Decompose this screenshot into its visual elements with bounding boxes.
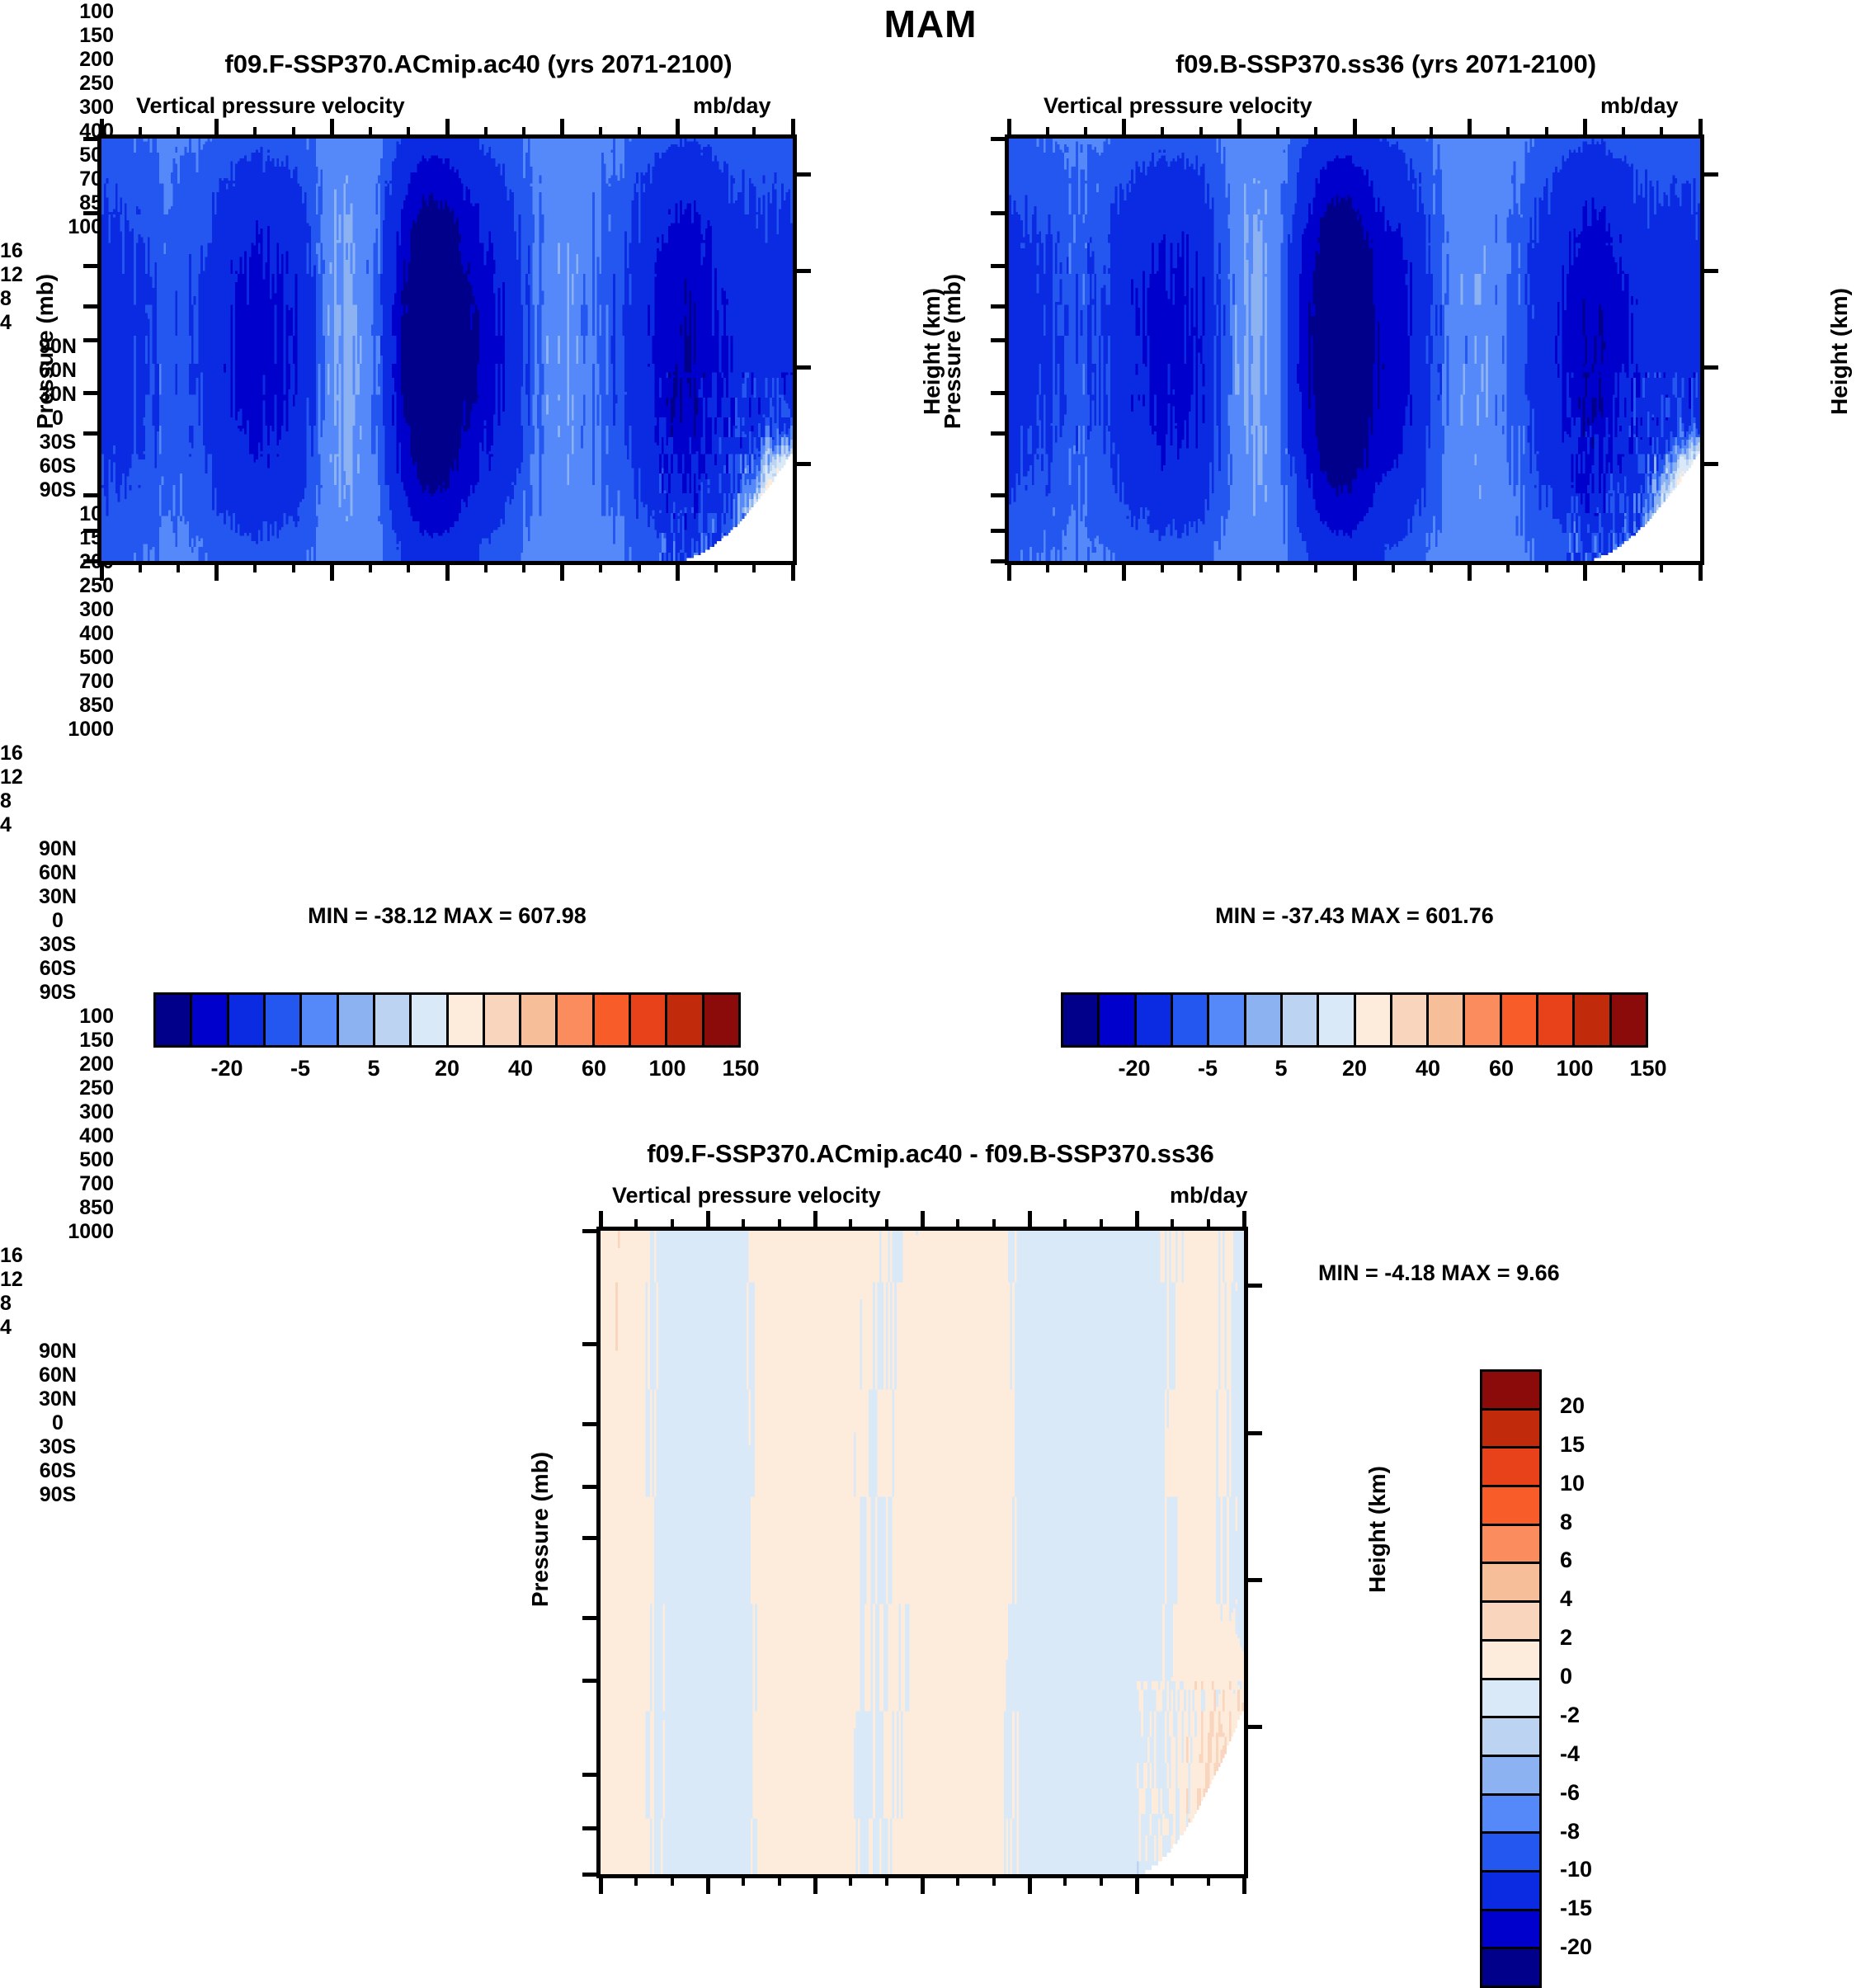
diff-panel-top-tick xyxy=(921,1211,925,1231)
diff-panel-lat-minor-tick xyxy=(671,1874,674,1886)
diff-panel-pressure-label: 400 xyxy=(0,1124,114,1148)
left-colorbar-cell[interactable] xyxy=(667,995,704,1045)
diff-panel-pressure-label: 250 xyxy=(0,1076,114,1100)
right-panel-lat-minor-tick xyxy=(1392,561,1395,572)
left-panel-lat-minor-tick xyxy=(752,561,756,572)
left-colorbar-cell[interactable] xyxy=(485,995,521,1045)
diff-colorbar-cell[interactable] xyxy=(1482,1718,1539,1757)
right-panel-lat-minor-tick xyxy=(1506,561,1510,572)
diff-panel-pressure-label: 500 xyxy=(0,1148,114,1172)
left-panel-lat-minor-tick xyxy=(292,561,295,572)
right-panel-height-tick xyxy=(1700,172,1718,177)
diff-panel-height-tick xyxy=(1244,1431,1262,1435)
left-panel-lat-minor-tick xyxy=(484,561,488,572)
right-panel-top-minor-tick xyxy=(1392,127,1395,139)
diff-colorbar-cell[interactable] xyxy=(1482,1372,1539,1411)
left-colorbar-cell[interactable] xyxy=(302,995,338,1045)
right-colorbar-cell[interactable] xyxy=(1429,995,1465,1045)
right-panel-lat-tick xyxy=(1468,561,1472,581)
right-panel-lat-tick xyxy=(1353,561,1357,581)
right-panel-lat-minor-tick xyxy=(1660,561,1663,572)
left-panel-lat-minor-tick xyxy=(177,561,180,572)
right-panel-top-minor-tick xyxy=(1506,127,1510,139)
diff-panel-lat-label: 90N xyxy=(0,1340,115,1364)
right-panel-pressure-tick xyxy=(991,304,1009,309)
diff-panel-lat-label: 0 xyxy=(0,1411,115,1435)
left-colorbar-cell[interactable] xyxy=(192,995,229,1045)
diff-colorbar-cell[interactable] xyxy=(1482,1680,1539,1719)
diff-colorbar-cell[interactable] xyxy=(1482,1834,1539,1873)
left-colorbar-label: 150 xyxy=(691,1056,790,1081)
diff-panel-lat-minor-tick xyxy=(742,1874,745,1886)
diff-panel-top-minor-tick xyxy=(885,1219,888,1231)
diff-panel-lat-minor-tick xyxy=(1063,1874,1067,1886)
diff-panel-lat-label: 30S xyxy=(0,1435,115,1459)
right-panel-lat-tick xyxy=(1583,561,1587,581)
diff-colorbar-cell[interactable] xyxy=(1482,1796,1539,1835)
left-panel-lat-tick xyxy=(676,561,680,581)
left-panel-pressure-tick xyxy=(83,338,101,342)
right-colorbar-cell[interactable] xyxy=(1137,995,1173,1045)
diff-panel-top-minor-tick xyxy=(634,1219,638,1231)
diff-colorbar-cell[interactable] xyxy=(1482,1564,1539,1603)
right-colorbar-cell[interactable] xyxy=(1356,995,1392,1045)
diff-panel-lat-label: 60S xyxy=(0,1459,115,1483)
diff-panel-top-minor-tick xyxy=(1100,1219,1103,1231)
left-panel-top-minor-tick xyxy=(714,127,718,139)
left-panel-lat-minor-tick xyxy=(369,561,372,572)
right-panel-pressure-tick xyxy=(991,391,1009,395)
left-colorbar-cell[interactable] xyxy=(266,995,302,1045)
diff-panel-top-tick xyxy=(599,1211,603,1231)
right-colorbar-label: 150 xyxy=(1599,1056,1698,1081)
diff-colorbar-cell[interactable] xyxy=(1482,1603,1539,1642)
diff-panel-minmax: MIN = -4.18 MAX = 9.66 xyxy=(1318,1260,1560,1286)
right-panel-lat-minor-tick xyxy=(1276,561,1279,572)
left-panel-top-tick xyxy=(445,119,450,139)
diff-panel-lat-minor-tick xyxy=(1171,1874,1174,1886)
left-colorbar-cell[interactable] xyxy=(704,995,738,1045)
right-panel-colorbar[interactable] xyxy=(1061,992,1648,1048)
right-panel-plot xyxy=(1005,134,1704,565)
diff-colorbar-cell[interactable] xyxy=(1482,1526,1539,1565)
right-colorbar-cell[interactable] xyxy=(1392,995,1429,1045)
diff-panel-pressure-label: 100 xyxy=(0,1005,114,1029)
diff-panel-lat-tick xyxy=(1028,1874,1032,1894)
diff-panel-top-minor-tick xyxy=(671,1219,674,1231)
left-colorbar-cell[interactable] xyxy=(558,995,594,1045)
diff-panel-lat-tick xyxy=(706,1874,710,1894)
diff-panel-pressure-label: 1000 xyxy=(0,1220,114,1244)
diff-colorbar-cell[interactable] xyxy=(1482,1873,1539,1911)
right-colorbar-cell[interactable] xyxy=(1612,995,1646,1045)
diff-panel-lat-minor-tick xyxy=(992,1874,996,1886)
left-panel-top-minor-tick xyxy=(484,127,488,139)
figure-root: MAM f09.F-SSP370.ACmip.ac40 (yrs 2071-21… xyxy=(0,0,1861,1966)
right-colorbar-cell[interactable] xyxy=(1246,995,1283,1045)
diff-colorbar-label: 20 xyxy=(1560,1393,1634,1419)
diff-panel-lat-minor-tick xyxy=(885,1874,888,1886)
left-colorbar-cell[interactable] xyxy=(339,995,375,1045)
left-panel-variable: Vertical pressure velocity xyxy=(136,93,405,119)
diff-panel-pressure-label: 850 xyxy=(0,1196,114,1220)
right-panel-top-minor-tick xyxy=(1276,127,1279,139)
diff-panel-lat-minor-tick xyxy=(1100,1874,1103,1886)
right-panel-lat-label: 90N xyxy=(0,837,115,861)
right-panel-lat-minor-tick xyxy=(1199,561,1203,572)
left-panel-top-tick xyxy=(330,119,334,139)
left-panel-lat-tick xyxy=(214,561,219,581)
left-panel-top-minor-tick xyxy=(407,127,410,139)
diff-panel-ylabel: Pressure (mb) xyxy=(527,1422,554,1637)
diff-colorbar-label: 2 xyxy=(1560,1625,1634,1651)
diff-colorbar-label: 10 xyxy=(1560,1471,1634,1496)
right-panel-pressure-label: 250 xyxy=(0,574,114,598)
right-panel-top-tick xyxy=(1583,119,1587,139)
right-panel-top-tick xyxy=(1122,119,1126,139)
right-panel-units: mb/day xyxy=(1600,93,1679,119)
right-panel-lat-minor-tick xyxy=(1545,561,1548,572)
left-colorbar-cell[interactable] xyxy=(375,995,412,1045)
right-panel-top-minor-tick xyxy=(1622,127,1625,139)
left-panel-top-tick xyxy=(214,119,219,139)
right-panel-height-tick xyxy=(1700,365,1718,370)
right-panel-top-tick xyxy=(1698,119,1703,139)
left-panel-top-tick xyxy=(100,119,104,139)
diff-panel-units: mb/day xyxy=(1170,1183,1248,1208)
right-panel-top-minor-tick xyxy=(1545,127,1548,139)
diff-colorbar-label: -8 xyxy=(1560,1819,1634,1844)
right-panel-lat-tick xyxy=(1237,561,1241,581)
right-panel-pressure-tick xyxy=(991,493,1009,497)
diff-panel-pressure-tick xyxy=(582,1342,601,1346)
diff-panel-top-tick xyxy=(1242,1211,1246,1231)
right-colorbar-cell[interactable] xyxy=(1209,995,1246,1045)
left-panel-plot xyxy=(97,134,797,565)
diff-panel-top-tick xyxy=(1135,1211,1139,1231)
diff-panel-top-minor-tick xyxy=(1207,1219,1210,1231)
left-panel-top-minor-tick xyxy=(139,127,142,139)
right-panel-pressure-tick xyxy=(991,338,1009,342)
right-colorbar-cell[interactable] xyxy=(1100,995,1136,1045)
left-panel-lat-tick xyxy=(791,561,795,581)
diff-colorbar-cell[interactable] xyxy=(1482,1911,1539,1950)
diff-panel-pressure-tick xyxy=(582,1485,601,1489)
right-panel-y2label: Height (km) xyxy=(1826,244,1853,459)
diff-panel-top-tick xyxy=(1028,1211,1032,1231)
right-panel-height-label: 16 xyxy=(0,742,49,766)
left-panel-top-minor-tick xyxy=(522,127,525,139)
left-panel-pressure-tick xyxy=(83,391,101,395)
diff-panel-pressure-tick xyxy=(582,1536,601,1540)
right-colorbar-cell[interactable] xyxy=(1465,995,1501,1045)
diff-colorbar-label: 6 xyxy=(1560,1548,1634,1573)
diff-panel-lat-tick xyxy=(921,1874,925,1894)
diff-colorbar-label: -2 xyxy=(1560,1703,1634,1728)
left-panel-pressure-tick xyxy=(83,264,101,268)
diff-panel-pressure-label: 150 xyxy=(0,1029,114,1053)
left-panel-lat-minor-tick xyxy=(638,561,641,572)
diff-colorbar-label: -15 xyxy=(1560,1896,1634,1921)
right-panel-height-label: 12 xyxy=(0,766,49,789)
left-panel-pressure-tick xyxy=(83,529,101,533)
right-colorbar-cell[interactable] xyxy=(1538,995,1575,1045)
left-panel-pressure-tick xyxy=(83,304,101,309)
right-panel-lat-minor-tick xyxy=(1430,561,1433,572)
left-panel-height-tick xyxy=(793,462,811,466)
right-panel-variable: Vertical pressure velocity xyxy=(1044,93,1312,119)
right-panel-top-tick xyxy=(1353,119,1357,139)
left-panel-lat-tick xyxy=(445,561,450,581)
diff-colorbar-cell[interactable] xyxy=(1482,1411,1539,1449)
left-panel-lat-tick xyxy=(560,561,564,581)
left-panel-top-tick xyxy=(676,119,680,139)
diff-colorbar-label: 8 xyxy=(1560,1510,1634,1535)
right-panel-top-tick xyxy=(1468,119,1472,139)
left-panel-title: f09.F-SSP370.ACmip.ac40 (yrs 2071-2100) xyxy=(33,49,924,79)
diff-colorbar-label: -20 xyxy=(1560,1934,1634,1960)
diff-colorbar-label: -6 xyxy=(1560,1780,1634,1806)
left-colorbar-cell[interactable] xyxy=(412,995,448,1045)
diff-panel-lat-tick xyxy=(1242,1874,1246,1894)
left-colorbar-cell[interactable] xyxy=(156,995,192,1045)
diff-panel-top-minor-tick xyxy=(849,1219,852,1231)
left-panel-pressure-label: 300 xyxy=(0,96,114,120)
right-panel-lat-minor-tick xyxy=(1622,561,1625,572)
contour-field xyxy=(601,1231,1244,1874)
diff-colorbar-cell[interactable] xyxy=(1482,1949,1539,1986)
left-panel-units: mb/day xyxy=(693,93,771,119)
right-panel-height-label: 4 xyxy=(0,813,49,837)
right-panel-height-tick xyxy=(1700,462,1718,466)
right-panel-pressure-label: 400 xyxy=(0,622,114,646)
diff-panel-lat-minor-tick xyxy=(634,1874,638,1886)
diff-panel-lat-tick xyxy=(813,1874,817,1894)
left-panel-pressure-tick xyxy=(83,211,101,215)
left-panel-lat-minor-tick xyxy=(139,561,142,572)
diff-panel-pressure-tick xyxy=(582,1422,601,1426)
diff-panel-colorbar[interactable] xyxy=(1480,1369,1542,1988)
diff-colorbar-cell[interactable] xyxy=(1482,1642,1539,1680)
diff-panel-height-label: 8 xyxy=(0,1292,49,1316)
diff-panel-height-label: 4 xyxy=(0,1316,49,1340)
diff-panel-pressure-label: 300 xyxy=(0,1100,114,1124)
left-panel-pressure-tick xyxy=(83,431,101,436)
diff-colorbar-cell[interactable] xyxy=(1482,1757,1539,1796)
right-panel-lat-tick xyxy=(1007,561,1011,581)
left-panel-height-tick xyxy=(793,269,811,273)
diff-panel-pressure-tick xyxy=(582,1773,601,1777)
diff-colorbar-cell[interactable] xyxy=(1482,1449,1539,1487)
right-colorbar-cell[interactable] xyxy=(1063,995,1100,1045)
diff-panel-top-minor-tick xyxy=(778,1219,781,1231)
left-panel-minmax: MIN = -38.12 MAX = 607.98 xyxy=(97,903,797,929)
diff-panel-top-minor-tick xyxy=(742,1219,745,1231)
right-panel-pressure-label: 300 xyxy=(0,598,114,622)
diff-colorbar-label: 0 xyxy=(1560,1664,1634,1689)
left-panel-top-minor-tick xyxy=(177,127,180,139)
diff-panel-height-label: 16 xyxy=(0,1244,49,1268)
right-panel-top-minor-tick xyxy=(1314,127,1317,139)
right-panel-top-minor-tick xyxy=(1046,127,1049,139)
right-colorbar-cell[interactable] xyxy=(1575,995,1611,1045)
left-panel-top-minor-tick xyxy=(253,127,257,139)
diff-panel-lat-minor-tick xyxy=(849,1874,852,1886)
diff-panel-height-tick xyxy=(1244,1578,1262,1582)
left-colorbar-cell[interactable] xyxy=(521,995,558,1045)
right-panel-ylabel: Pressure (mb) xyxy=(940,244,966,459)
diff-panel-plot xyxy=(596,1227,1248,1878)
page-title: MAM xyxy=(0,2,1861,46)
left-panel-pressure-tick xyxy=(83,493,101,497)
right-panel-pressure-tick xyxy=(991,529,1009,533)
right-panel-lat-label: 30S xyxy=(0,933,115,957)
right-panel-top-minor-tick xyxy=(1084,127,1087,139)
right-panel-top-tick xyxy=(1007,119,1011,139)
diff-panel-pressure-tick xyxy=(582,1679,601,1683)
right-panel-lat-minor-tick xyxy=(1161,561,1164,572)
right-panel-minmax: MIN = -37.43 MAX = 601.76 xyxy=(1005,903,1704,929)
left-colorbar-cell[interactable] xyxy=(229,995,266,1045)
diff-colorbar-cell[interactable] xyxy=(1482,1487,1539,1526)
diff-panel-top-minor-tick xyxy=(956,1219,959,1231)
diff-panel-top-tick xyxy=(813,1211,817,1231)
diff-panel-y2label: Height (km) xyxy=(1364,1422,1391,1637)
diff-colorbar-label: 4 xyxy=(1560,1586,1634,1612)
diff-panel-variable: Vertical pressure velocity xyxy=(612,1183,881,1208)
diff-colorbar-label: -4 xyxy=(1560,1741,1634,1767)
right-panel-top-tick xyxy=(1237,119,1241,139)
left-panel-top-tick xyxy=(791,119,795,139)
diff-colorbar-label: 15 xyxy=(1560,1432,1634,1458)
diff-panel-height-tick xyxy=(1244,1725,1262,1729)
left-panel-lat-minor-tick xyxy=(714,561,718,572)
left-panel-lat-minor-tick xyxy=(599,561,602,572)
left-colorbar-cell[interactable] xyxy=(595,995,631,1045)
contour-field xyxy=(1009,139,1700,561)
right-panel-height-tick xyxy=(1700,269,1718,273)
right-panel-lat-label: 60S xyxy=(0,957,115,981)
left-panel-colorbar[interactable] xyxy=(153,992,741,1048)
left-panel-ylabel: Pressure (mb) xyxy=(32,244,59,459)
right-panel-lat-tick xyxy=(1122,561,1126,581)
diff-panel-pressure-label: 700 xyxy=(0,1172,114,1196)
diff-panel-lat-tick xyxy=(599,1874,603,1894)
right-panel-lat-label: 90S xyxy=(0,981,115,1005)
right-panel-pressure-label: 850 xyxy=(0,694,114,718)
diff-panel-lat-label: 30N xyxy=(0,1387,115,1411)
diff-panel-pressure-label: 200 xyxy=(0,1053,114,1076)
right-panel-top-minor-tick xyxy=(1430,127,1433,139)
left-panel-top-minor-tick xyxy=(752,127,756,139)
right-panel-top-minor-tick xyxy=(1660,127,1663,139)
right-panel-pressure-tick xyxy=(991,211,1009,215)
left-panel-top-minor-tick xyxy=(638,127,641,139)
diff-panel-title: f09.F-SSP370.ACmip.ac40 - f09.B-SSP370.s… xyxy=(485,1139,1376,1169)
diff-panel-lat-minor-tick xyxy=(778,1874,781,1886)
right-panel-top-minor-tick xyxy=(1199,127,1203,139)
left-panel-lat-minor-tick xyxy=(522,561,525,572)
diff-panel-top-tick xyxy=(706,1211,710,1231)
right-colorbar-cell[interactable] xyxy=(1502,995,1538,1045)
diff-panel-height-label: 12 xyxy=(0,1268,49,1292)
diff-panel-lat-tick xyxy=(1135,1874,1139,1894)
left-colorbar-cell[interactable] xyxy=(631,995,667,1045)
right-panel-lat-minor-tick xyxy=(1084,561,1087,572)
right-panel-lat-label: 60N xyxy=(0,861,115,885)
left-panel-top-tick xyxy=(560,119,564,139)
left-panel-lat-tick xyxy=(100,561,104,581)
right-panel-pressure-label: 700 xyxy=(0,670,114,694)
left-panel-lat-minor-tick xyxy=(253,561,257,572)
left-panel-lat-tick xyxy=(330,561,334,581)
diff-panel-pressure-tick xyxy=(582,1826,601,1830)
right-panel-pressure-label: 500 xyxy=(0,646,114,670)
diff-panel-lat-label: 60N xyxy=(0,1364,115,1387)
contour-field xyxy=(101,139,793,561)
right-colorbar-cell[interactable] xyxy=(1173,995,1209,1045)
left-colorbar-cell[interactable] xyxy=(449,995,485,1045)
right-panel-lat-minor-tick xyxy=(1314,561,1317,572)
right-panel-pressure-tick xyxy=(991,264,1009,268)
left-panel-top-minor-tick xyxy=(599,127,602,139)
left-panel-height-tick xyxy=(793,365,811,370)
right-panel-top-minor-tick xyxy=(1161,127,1164,139)
right-colorbar-cell[interactable] xyxy=(1319,995,1355,1045)
right-panel-lat-minor-tick xyxy=(1046,561,1049,572)
diff-panel-pressure-tick xyxy=(582,1616,601,1620)
left-panel-lat-minor-tick xyxy=(407,561,410,572)
diff-panel-height-tick xyxy=(1244,1284,1262,1288)
diff-panel-lat-minor-tick xyxy=(956,1874,959,1886)
right-panel-height-label: 8 xyxy=(0,789,49,813)
right-panel-lat-tick xyxy=(1698,561,1703,581)
diff-panel-top-minor-tick xyxy=(992,1219,996,1231)
diff-colorbar-label: -10 xyxy=(1560,1857,1634,1882)
diff-panel-top-minor-tick xyxy=(1063,1219,1067,1231)
right-colorbar-cell[interactable] xyxy=(1283,995,1319,1045)
diff-panel-top-minor-tick xyxy=(1171,1219,1174,1231)
diff-panel-lat-minor-tick xyxy=(1207,1874,1210,1886)
right-panel-pressure-tick xyxy=(991,431,1009,436)
left-panel-height-tick xyxy=(793,172,811,177)
left-panel-top-minor-tick xyxy=(292,127,295,139)
right-panel-pressure-label: 1000 xyxy=(0,718,114,742)
left-panel-top-minor-tick xyxy=(369,127,372,139)
diff-panel-lat-label: 90S xyxy=(0,1483,115,1507)
right-panel-title: f09.B-SSP370.ss36 (yrs 2071-2100) xyxy=(940,49,1831,79)
